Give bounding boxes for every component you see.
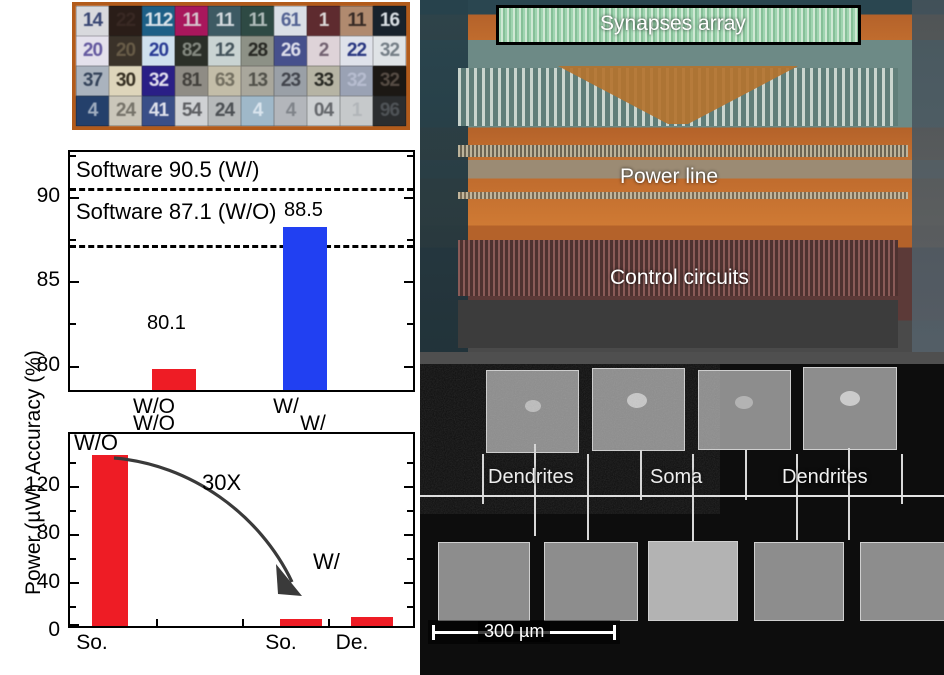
svhn-cell: 112 <box>142 6 175 36</box>
svhn-cell-digits: 32 <box>149 71 168 90</box>
svhn-cell: 1 <box>307 6 340 36</box>
chip-bottom-block <box>458 300 898 348</box>
svhn-cell: 04 <box>307 96 340 126</box>
svhn-cell-digits: 32 <box>380 71 399 90</box>
power-xtick-dendrite-with: De. <box>322 631 382 655</box>
chip-fine-row-2 <box>458 192 908 199</box>
svhn-cell: 4 <box>241 96 274 126</box>
svhn-cell-digits: 63 <box>215 71 234 90</box>
power-plot-frame: W/O 30X W/ <box>68 432 415 628</box>
svhn-cell-digits: 14 <box>83 11 102 30</box>
svhn-cell-digits: 30 <box>116 71 135 90</box>
svhn-cell: 96 <box>373 96 406 126</box>
chip-fine-row <box>458 145 908 157</box>
accuracy-ytick-80: 80 <box>18 353 60 377</box>
svhn-cell: 32 <box>340 66 373 96</box>
svhn-cell: 11 <box>175 6 208 36</box>
accuracy-yminor-mark-1-right <box>407 239 413 241</box>
svhn-cell-digits: 24 <box>215 101 234 120</box>
svhn-cell: 81 <box>175 66 208 96</box>
svhn-cell: 82 <box>175 36 208 66</box>
svhn-cell-digits: 1 <box>352 101 362 120</box>
accuracy-value-label-with: 88.5 <box>284 199 323 222</box>
accuracy-bar-with <box>283 227 327 390</box>
svhn-cell: 22 <box>109 6 142 36</box>
chip-right-margin <box>912 0 944 364</box>
power-xtick-soma-without: So. <box>62 631 122 655</box>
scale-bar-label: 300 µm <box>478 621 550 642</box>
sem-bottom-pad-5 <box>860 542 944 621</box>
power-ytick-80: 80 <box>8 521 60 545</box>
svhn-cell-digits: 1 <box>319 11 329 30</box>
svhn-cell-digits: 37 <box>83 71 102 90</box>
accuracy-ytick-mark-80 <box>70 366 79 368</box>
svhn-cell-digits: 26 <box>281 41 300 60</box>
svhn-image-grid: 1422112111111611111620202082122826222323… <box>76 6 406 126</box>
svhn-cell-digits: 11 <box>215 11 233 30</box>
svhn-cell: 28 <box>241 36 274 66</box>
power-xtick-soma-with: So. <box>251 631 311 655</box>
sem-contact-dot-4 <box>840 391 860 406</box>
svhn-cell: 24 <box>208 96 241 126</box>
power-ytick-120: 120 <box>8 473 60 497</box>
chip-v-routing <box>458 66 898 128</box>
dendrites-right-label: Dendrites <box>782 466 868 489</box>
software-with-reference-line <box>70 188 413 191</box>
svhn-cell: 22 <box>340 36 373 66</box>
svhn-cell: 2 <box>307 36 340 66</box>
sem-wire-2 <box>534 444 536 536</box>
accuracy-ytick-mark-80-right <box>404 366 413 368</box>
svhn-cell: 37 <box>76 66 109 96</box>
sem-bottom-pad-1 <box>438 542 530 621</box>
soma-label: Soma <box>650 466 702 489</box>
svhn-cell: 32 <box>142 66 175 96</box>
sem-micrograph: Dendrites Soma Dendrites 300 µm <box>420 364 944 675</box>
svhn-cell-digits: 22 <box>347 41 366 60</box>
svhn-cell-digits: 81 <box>182 71 201 90</box>
svhn-cell: 11 <box>241 6 274 36</box>
svhn-cell-digits: 28 <box>248 41 267 60</box>
svhn-cell-digits: 22 <box>116 11 135 30</box>
svhn-cell: 33 <box>307 66 340 96</box>
sem-top-pad-3 <box>698 370 791 450</box>
sem-top-pad-4 <box>803 367 897 450</box>
svhn-cell-digits: 13 <box>248 71 267 90</box>
svhn-cell-digits: 4 <box>88 101 98 120</box>
svhn-cell: 26 <box>274 36 307 66</box>
software-without-label: Software 87.1 (W/O) <box>76 199 277 225</box>
svhn-cell: 14 <box>76 6 109 36</box>
svhn-cell: 32 <box>373 66 406 96</box>
chip-bottom-bar <box>420 352 944 364</box>
sem-contact-dot-2 <box>627 393 647 408</box>
sem-wire-4 <box>640 450 642 500</box>
svhn-cell-digits: 32 <box>347 71 366 90</box>
svhn-cell: 41 <box>142 96 175 126</box>
svhn-cell-digits: 11 <box>347 11 365 30</box>
power-ytick-0: 0 <box>8 618 60 642</box>
accuracy-ytick-mark-90-right <box>404 197 413 199</box>
svhn-cell-digits: 33 <box>314 71 333 90</box>
accuracy-bar-chart: Accuracy (%) 90 85 80 Software 90.5 (W/)… <box>0 140 420 415</box>
svhn-cell-digits: 04 <box>314 101 333 120</box>
svhn-cell-digits: 20 <box>83 41 102 60</box>
sem-horizontal-bus <box>420 495 944 497</box>
synapses-array-label: Synapses array <box>600 12 746 36</box>
svhn-cell: 20 <box>142 36 175 66</box>
svhn-cell: 11 <box>208 6 241 36</box>
svhn-cell: 24 <box>109 96 142 126</box>
accuracy-yminor-mark-2 <box>70 323 76 325</box>
power-annotation-without: W/O <box>74 430 118 456</box>
svhn-cell: 16 <box>373 6 406 36</box>
svhn-cell-digits: 11 <box>182 11 200 30</box>
accuracy-plot-frame: Software 90.5 (W/) Software 87.1 (W/O) 8… <box>68 150 415 392</box>
svhn-cell: 30 <box>109 66 142 96</box>
svhn-cell-digits: 82 <box>182 41 201 60</box>
sem-wire-3 <box>587 454 589 540</box>
control-circuits-label: Control circuits <box>610 266 749 290</box>
power-bar-chart: Power (µW) W/O W/ 120 80 40 0 <box>0 415 420 675</box>
accuracy-ytick-85: 85 <box>18 268 60 292</box>
accuracy-yminor-mark-2-right <box>407 323 413 325</box>
chip-micrograph: Synapses array Power line Control circui… <box>420 0 944 364</box>
svhn-cell: 63 <box>208 66 241 96</box>
power-line-label: Power line <box>620 165 718 189</box>
svhn-cell: 13 <box>241 66 274 96</box>
accuracy-yminor-mark-1 <box>70 239 76 241</box>
svhn-cell: 32 <box>373 36 406 66</box>
svhn-cell-digits: 20 <box>149 41 168 60</box>
scale-bar-cap-left <box>432 625 435 640</box>
sem-wire-6 <box>745 450 747 500</box>
dendrites-left-label: Dendrites <box>488 466 574 489</box>
power-annotation-reduction: 30X <box>202 470 241 496</box>
svhn-cell-digits: 4 <box>286 101 296 120</box>
accuracy-ytick-mark-85 <box>70 281 79 283</box>
svhn-cell-digits: 32 <box>380 41 399 60</box>
svhn-cell-digits: 20 <box>116 41 135 60</box>
accuracy-ytick-90: 90 <box>18 184 60 208</box>
svhn-cell-digits: 41 <box>149 101 168 120</box>
svhn-cell-digits: 4 <box>253 101 263 120</box>
svhn-cell-digits: 16 <box>380 11 399 30</box>
svhn-cell: 11 <box>340 6 373 36</box>
scale-bar-cap-right <box>613 625 616 640</box>
sem-bottom-pad-4 <box>754 542 844 621</box>
power-ytick-40: 40 <box>8 570 60 594</box>
accuracy-yminor-mark-3-right <box>407 155 413 157</box>
sem-bottom-pad-2 <box>544 542 638 621</box>
svhn-cell: 1 <box>340 96 373 126</box>
sem-bottom-pad-soma <box>648 541 738 621</box>
accuracy-ytick-mark-85-right <box>404 281 413 283</box>
svhn-cell-digits: 12 <box>215 41 234 60</box>
svhn-cell: 12 <box>208 36 241 66</box>
sem-contact-dot-3 <box>735 396 753 409</box>
software-with-label: Software 90.5 (W/) <box>76 157 259 183</box>
svhn-cell: 4 <box>76 96 109 126</box>
svhn-cell: 23 <box>274 66 307 96</box>
svhn-cell-digits: 2 <box>319 41 329 60</box>
svhn-cell: 4 <box>274 96 307 126</box>
sem-contact-dot-1 <box>525 400 541 412</box>
power-reduction-arrow <box>70 434 417 630</box>
software-without-reference-line <box>70 245 413 248</box>
svhn-cell-digits: 61 <box>281 11 300 30</box>
accuracy-value-label-without: 80.1 <box>147 312 186 335</box>
svhn-cell-digits: 96 <box>380 101 399 120</box>
sem-wire-8 <box>848 448 850 540</box>
svhn-cell: 20 <box>76 36 109 66</box>
svhn-dataset-montage: 1422112111111611111620202082122826222323… <box>72 2 410 130</box>
svhn-cell-digits: 23 <box>281 71 300 90</box>
sem-top-pad-2 <box>592 368 685 451</box>
svhn-cell-digits: 54 <box>182 101 201 120</box>
svhn-cell: 54 <box>175 96 208 126</box>
svhn-cell: 61 <box>274 6 307 36</box>
svhn-cell: 20 <box>109 36 142 66</box>
accuracy-bar-without <box>152 369 196 390</box>
power-annotation-with: W/ <box>313 549 340 575</box>
sem-scale-bar: 300 µm <box>428 620 620 644</box>
svhn-cell-digits: 112 <box>145 11 173 30</box>
svhn-cell-digits: 11 <box>248 11 266 30</box>
svhn-cell-digits: 24 <box>116 101 135 120</box>
